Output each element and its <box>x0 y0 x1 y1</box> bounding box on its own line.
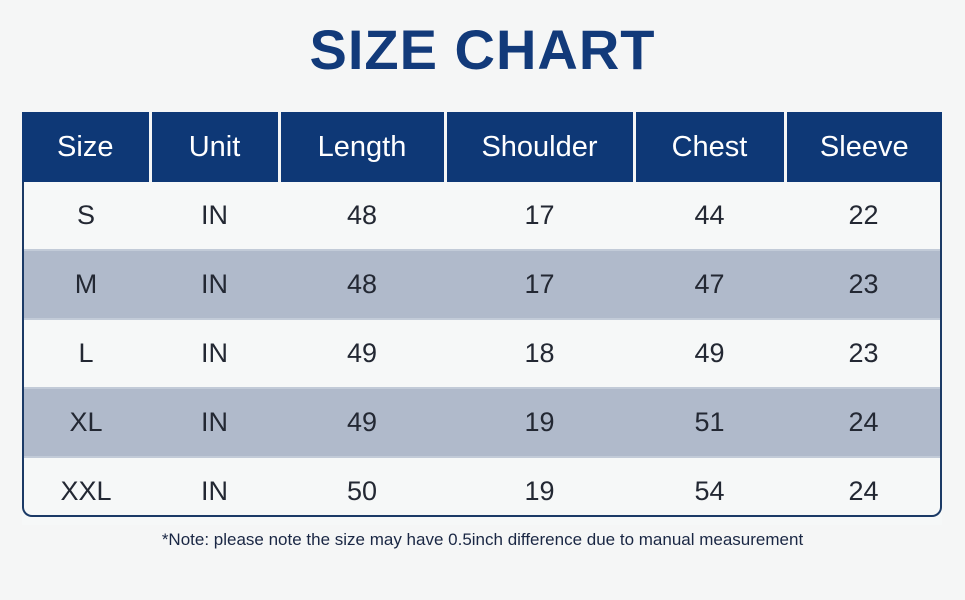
cell-unit: IN <box>150 388 279 457</box>
table-row: L IN 49 18 49 23 <box>22 319 942 388</box>
table-row: XL IN 49 19 51 24 <box>22 388 942 457</box>
cell-sleeve: 23 <box>785 319 942 388</box>
page-title: SIZE CHART <box>0 0 965 78</box>
cell-length: 49 <box>279 388 445 457</box>
table-header-row: Size Unit Length Shoulder Chest Sleeve <box>22 112 942 182</box>
cell-sleeve: 23 <box>785 250 942 319</box>
cell-unit: IN <box>150 250 279 319</box>
size-chart-page: SIZE CHART Size Unit Length Shoulder Che… <box>0 0 965 600</box>
table-row: XXL IN 50 19 54 24 <box>22 457 942 525</box>
cell-length: 48 <box>279 250 445 319</box>
size-table-container: Size Unit Length Shoulder Chest Sleeve S… <box>22 112 942 525</box>
cell-length: 49 <box>279 319 445 388</box>
cell-shoulder: 19 <box>445 388 634 457</box>
cell-chest: 54 <box>634 457 785 525</box>
cell-shoulder: 18 <box>445 319 634 388</box>
cell-chest: 49 <box>634 319 785 388</box>
column-header-chest: Chest <box>634 112 785 182</box>
cell-shoulder: 17 <box>445 182 634 250</box>
cell-chest: 51 <box>634 388 785 457</box>
cell-sleeve: 24 <box>785 388 942 457</box>
table-header: Size Unit Length Shoulder Chest Sleeve <box>22 112 942 182</box>
cell-length: 50 <box>279 457 445 525</box>
measurement-note: *Note: please note the size may have 0.5… <box>0 530 965 550</box>
cell-sleeve: 24 <box>785 457 942 525</box>
cell-size: L <box>22 319 150 388</box>
cell-size: S <box>22 182 150 250</box>
table-body: S IN 48 17 44 22 M IN 48 17 47 23 L <box>22 182 942 525</box>
cell-length: 48 <box>279 182 445 250</box>
table-row: M IN 48 17 47 23 <box>22 250 942 319</box>
table-row: S IN 48 17 44 22 <box>22 182 942 250</box>
cell-sleeve: 22 <box>785 182 942 250</box>
column-header-size: Size <box>22 112 150 182</box>
column-header-length: Length <box>279 112 445 182</box>
cell-shoulder: 17 <box>445 250 634 319</box>
column-header-sleeve: Sleeve <box>785 112 942 182</box>
cell-chest: 44 <box>634 182 785 250</box>
cell-size: XXL <box>22 457 150 525</box>
size-table: Size Unit Length Shoulder Chest Sleeve S… <box>22 112 942 525</box>
cell-size: XL <box>22 388 150 457</box>
cell-chest: 47 <box>634 250 785 319</box>
cell-unit: IN <box>150 457 279 525</box>
cell-unit: IN <box>150 319 279 388</box>
cell-size: M <box>22 250 150 319</box>
cell-shoulder: 19 <box>445 457 634 525</box>
column-header-shoulder: Shoulder <box>445 112 634 182</box>
column-header-unit: Unit <box>150 112 279 182</box>
cell-unit: IN <box>150 182 279 250</box>
